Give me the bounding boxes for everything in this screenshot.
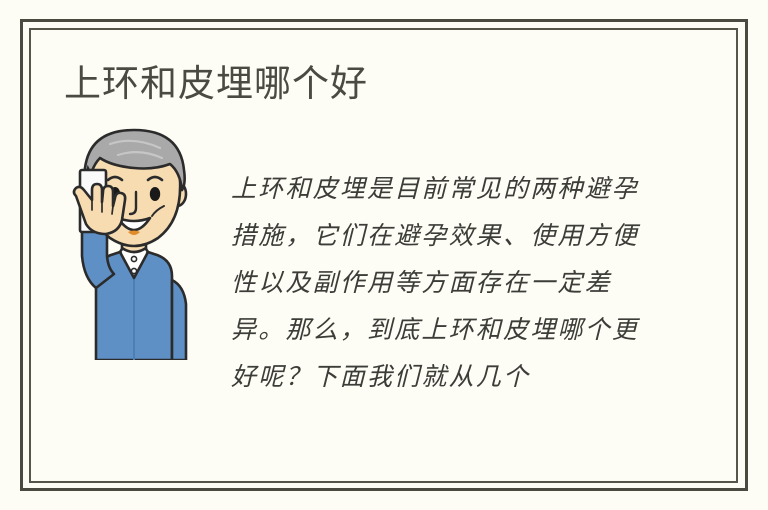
page-root: 上环和皮埋哪个好: [0, 0, 768, 510]
article-body: 上环和皮埋是目前常见的两种避孕措施，它们在避孕效果、使用方便性以及副作用等方面存…: [231, 166, 655, 401]
page-title: 上环和皮埋哪个好: [64, 60, 368, 108]
elderly-man-on-phone-illustration: [58, 128, 210, 360]
cardigan-right-sleeve: [172, 280, 186, 360]
